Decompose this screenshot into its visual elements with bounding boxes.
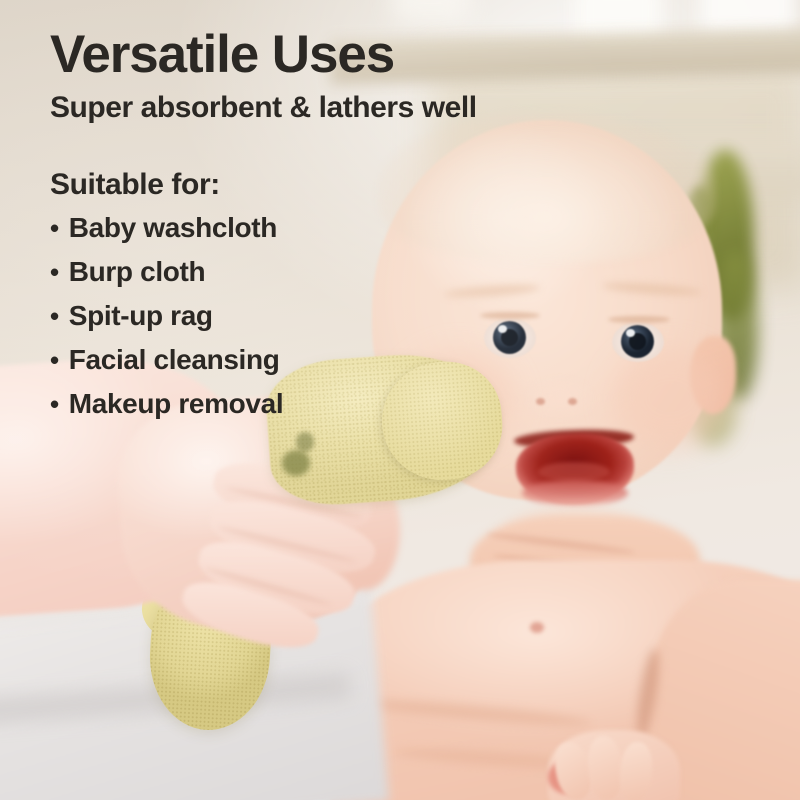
baby-eye-right — [612, 322, 664, 362]
list-item-label: Makeup removal — [69, 390, 284, 418]
window-pane-icon — [392, 0, 470, 22]
washcloth-green-accent — [296, 432, 314, 452]
page-title: Versatile Uses — [50, 28, 570, 82]
list-item: • Facial cleansing — [50, 346, 570, 374]
product-feature-image: Versatile Uses Super absorbent & lathers… — [0, 0, 800, 800]
list-item-label: Facial cleansing — [69, 346, 280, 374]
list-item: • Burp cloth — [50, 258, 570, 286]
uses-lead-label: Suitable for: — [50, 168, 570, 202]
list-item: • Makeup removal — [50, 390, 570, 418]
eye-highlight — [626, 329, 635, 337]
list-item-label: Burp cloth — [69, 258, 206, 286]
bullet-icon: • — [50, 215, 59, 241]
list-item-label: Spit-up rag — [69, 302, 213, 330]
uses-list: • Baby washcloth • Burp cloth • Spit-up … — [50, 214, 570, 418]
washcloth-green-accent — [282, 450, 310, 476]
baby-skin-spot — [530, 622, 544, 633]
baby-lower-lip — [522, 480, 628, 506]
list-item-label: Baby washcloth — [69, 214, 277, 242]
baby-eyelid-right — [608, 316, 670, 323]
baby-tongue — [538, 462, 610, 482]
page-subtitle: Super absorbent & lathers well — [50, 91, 570, 124]
bullet-icon: • — [50, 303, 59, 329]
bullet-icon: • — [50, 391, 59, 417]
bullet-icon: • — [50, 259, 59, 285]
copy-block: Versatile Uses Super absorbent & lathers… — [50, 28, 570, 434]
list-item: • Baby washcloth — [50, 214, 570, 242]
bullet-icon: • — [50, 347, 59, 373]
list-item: • Spit-up rag — [50, 302, 570, 330]
